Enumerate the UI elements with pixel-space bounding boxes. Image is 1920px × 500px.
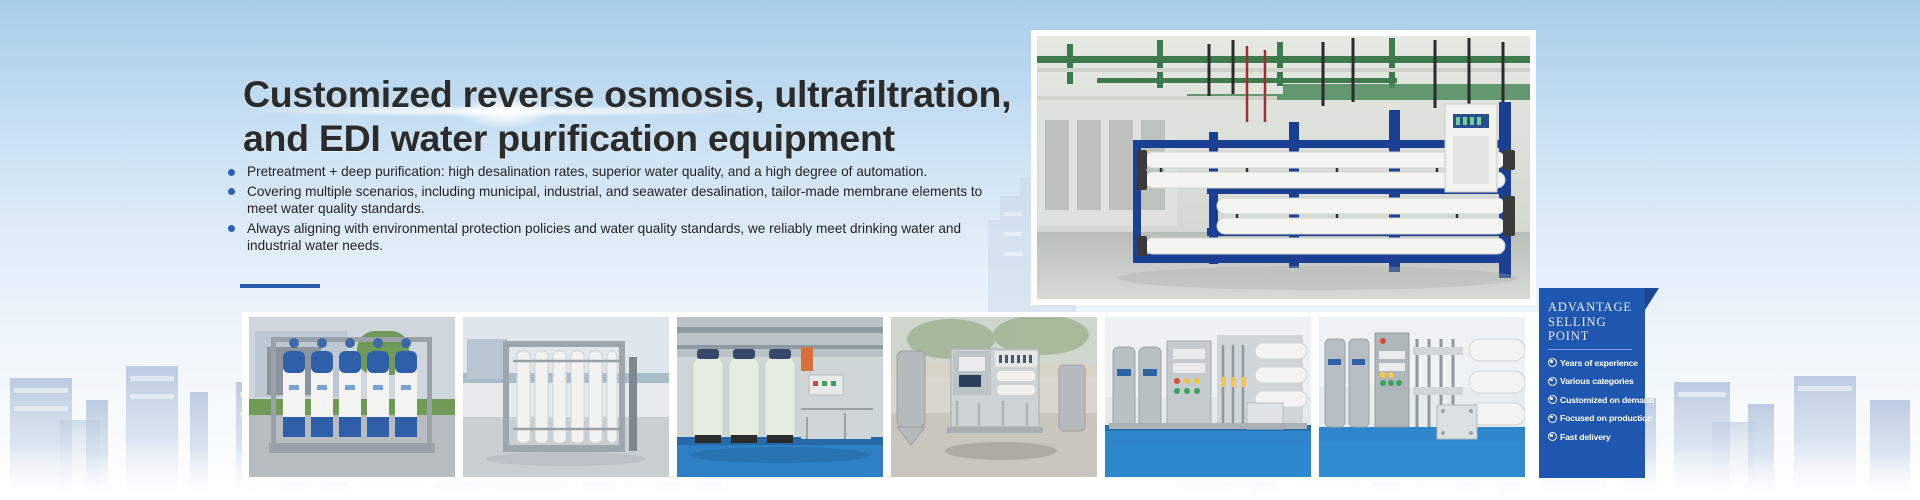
list-item[interactable] (463, 317, 669, 477)
badge-title-line-2: SELLING POINT (1548, 315, 1637, 344)
double-circle-icon (1548, 432, 1557, 441)
bullet-text: Covering multiple scenarios, including m… (247, 184, 982, 217)
list-item[interactable] (1105, 317, 1311, 477)
list-item: Always aligning with environmental prote… (228, 220, 988, 255)
list-item: Fast delivery (1548, 432, 1637, 442)
double-circle-icon (1548, 358, 1557, 367)
badge-title-line-1: ADVANTAGE (1548, 300, 1637, 315)
thumbnail-strip[interactable] (242, 312, 1542, 482)
page-title: Customized reverse osmosis, ultrafiltrat… (243, 73, 1083, 160)
bullet-dot-icon (228, 225, 235, 232)
bullet-dot-icon (228, 169, 235, 176)
bullet-text: Always aligning with environmental prote… (247, 221, 961, 254)
list-item: Years of experience (1548, 358, 1637, 368)
list-item: Covering multiple scenarios, including m… (228, 183, 988, 218)
list-item[interactable] (249, 317, 455, 477)
headline-line-2: and EDI water purification equipment (243, 117, 1083, 161)
headline-line-1: Customized reverse osmosis, ultrafiltrat… (243, 73, 1011, 115)
list-item[interactable] (677, 317, 883, 477)
list-item: Various categories (1548, 376, 1637, 386)
list-item: Pretreatment + deep purification: high d… (228, 163, 988, 181)
bullet-dot-icon (228, 188, 235, 195)
badge-divider (1548, 349, 1632, 350)
list-item: Customized on demand (1548, 395, 1637, 405)
product-banner: Customized reverse osmosis, ultrafiltrat… (0, 0, 1920, 500)
bullet-text: Pretreatment + deep purification: high d… (247, 164, 927, 179)
badge-corner-fold (1645, 288, 1659, 310)
badge-item-label: Fast delivery (1560, 432, 1611, 442)
list-item: Focused on production (1548, 413, 1637, 423)
list-item[interactable] (1319, 317, 1525, 477)
hero-image-frame (1031, 30, 1536, 305)
badge-title: ADVANTAGE SELLING POINT (1548, 300, 1637, 344)
double-circle-icon (1548, 377, 1557, 386)
badge-item-label: Various categories (1560, 376, 1634, 386)
badge-item-label: Customized on demand (1560, 395, 1654, 405)
feature-bullet-list: Pretreatment + deep purification: high d… (228, 163, 988, 257)
advantage-selling-point-badge: ADVANTAGE SELLING POINT Years of experie… (1539, 288, 1645, 478)
accent-underline-bar (240, 284, 320, 288)
badge-item-label: Years of experience (1560, 358, 1638, 368)
list-item[interactable] (891, 317, 1097, 477)
badge-item-label: Focused on production (1560, 413, 1652, 423)
hero-image-reverse-osmosis-plant (1037, 36, 1530, 299)
double-circle-icon (1548, 414, 1557, 423)
double-circle-icon (1548, 395, 1557, 404)
